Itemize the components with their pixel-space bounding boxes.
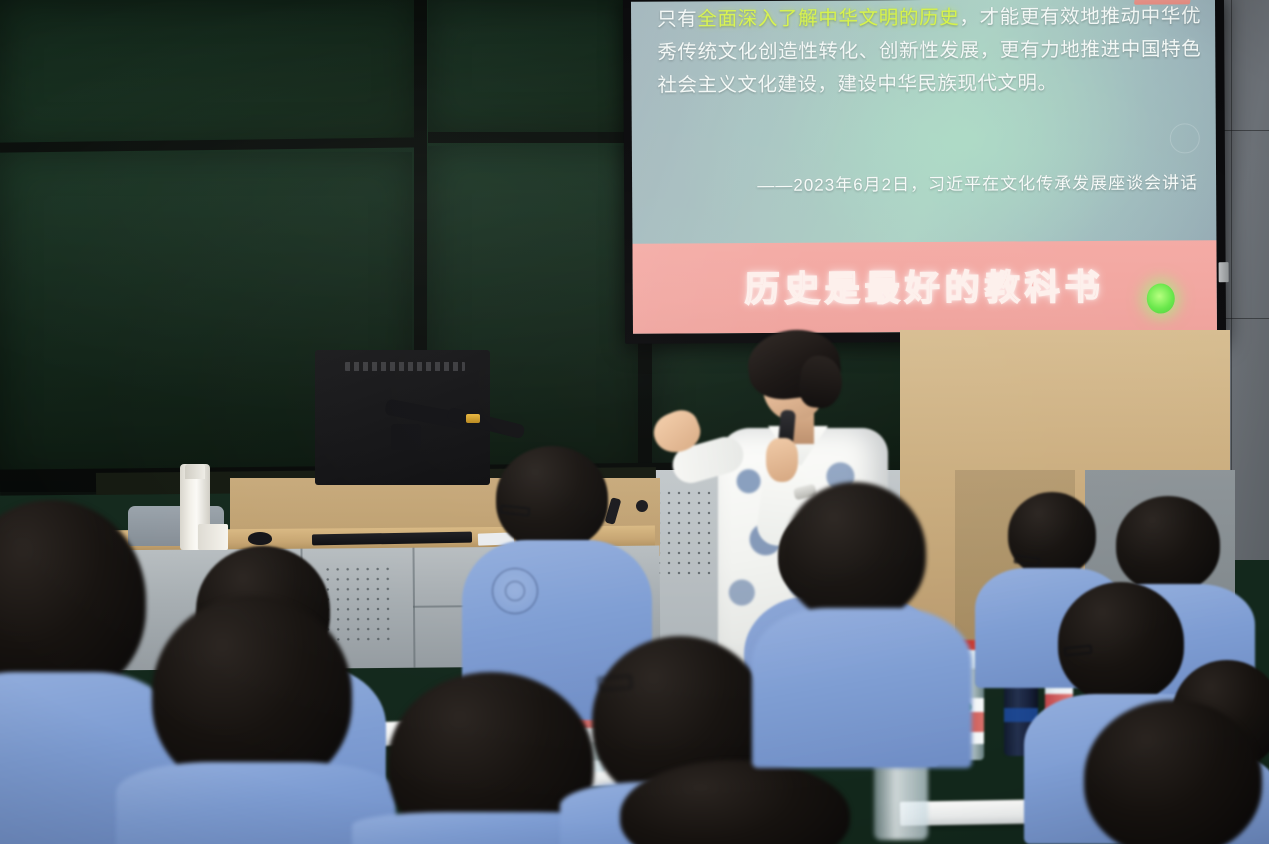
slide-watermark-icon xyxy=(1170,123,1200,153)
lecture-hall-photo: 只有全面深入了解中华文明的历史，才能更有效地推动中华优秀传统文化创造性转化、创新… xyxy=(0,0,1269,844)
slide-attribution: ——2023年6月2日，习近平在文化传承发展座谈会讲话 xyxy=(757,168,1198,196)
microphone-knob xyxy=(466,414,480,423)
slide-quote-prefix: 只有 xyxy=(657,8,697,30)
school-emblem xyxy=(492,568,538,614)
projection-screen: 只有全面深入了解中华文明的历史，才能更有效地推动中华优秀传统文化创造性转化、创新… xyxy=(623,0,1226,344)
slide-quote-text: 只有全面深入了解中华文明的历史，才能更有效地推动中华优秀传统文化创造性转化、创新… xyxy=(657,0,1202,102)
slide-quote-highlight: 全面深入了解中华文明的历史 xyxy=(697,7,959,31)
thermos-cap xyxy=(185,464,205,479)
presenter-right-hand xyxy=(766,438,798,482)
projected-slide: 只有全面深入了解中华文明的历史，才能更有效地推动中华优秀传统文化创造性转化、创新… xyxy=(631,0,1217,334)
thermos-base-cup xyxy=(198,524,228,550)
slide-title-banner: 历史是最好的教科书 xyxy=(632,240,1217,334)
wall-microphone-head xyxy=(636,500,648,512)
laser-pointer-dot xyxy=(1147,283,1175,313)
screen-edge-clip xyxy=(1219,262,1229,282)
slide-body: 只有全面深入了解中华文明的历史，才能更有效地推动中华优秀传统文化创造性转化、创新… xyxy=(631,0,1216,244)
computer-mouse xyxy=(248,532,272,545)
slide-title: 历史是最好的教科书 xyxy=(633,258,1217,313)
monitor-brand-logo xyxy=(345,362,465,371)
gooseneck-microphone xyxy=(385,400,535,452)
